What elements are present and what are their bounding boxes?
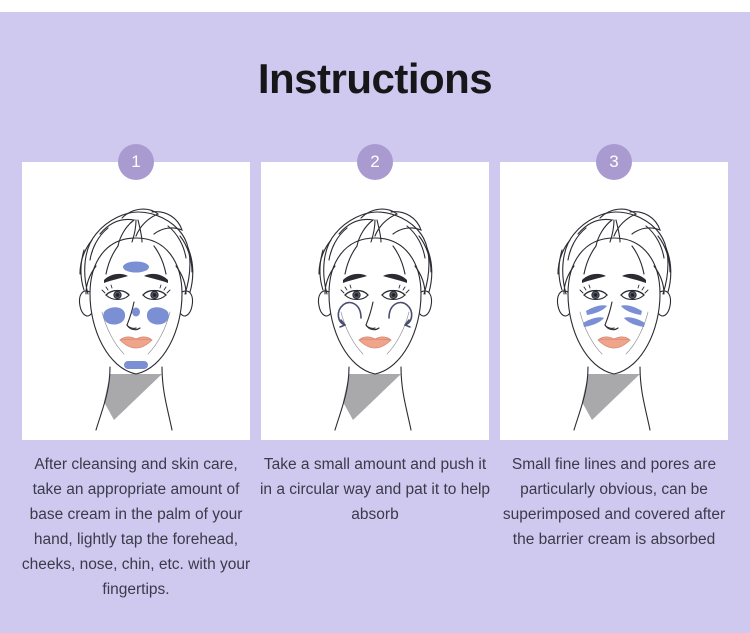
page-title: Instructions bbox=[0, 55, 750, 103]
step-badge-1: 1 bbox=[118, 144, 154, 180]
face-illustration-2 bbox=[261, 162, 489, 440]
step-card-3: 3 bbox=[500, 162, 728, 440]
instructions-infographic: Instructions 1 bbox=[0, 0, 750, 633]
step-caption-2: Take a small amount and push it in a cir… bbox=[257, 452, 493, 527]
steps-container: 1 bbox=[22, 162, 728, 440]
step-badge-3: 3 bbox=[596, 144, 632, 180]
step-card-1: 1 bbox=[22, 162, 250, 440]
step-caption-3: Small fine lines and pores are particula… bbox=[496, 452, 732, 552]
step-caption-1: After cleansing and skin care, take an a… bbox=[18, 452, 254, 602]
step-card-2: 2 bbox=[261, 162, 489, 440]
step-badge-2: 2 bbox=[357, 144, 393, 180]
face-illustration-1 bbox=[22, 162, 250, 440]
face-illustration-3 bbox=[500, 162, 728, 440]
